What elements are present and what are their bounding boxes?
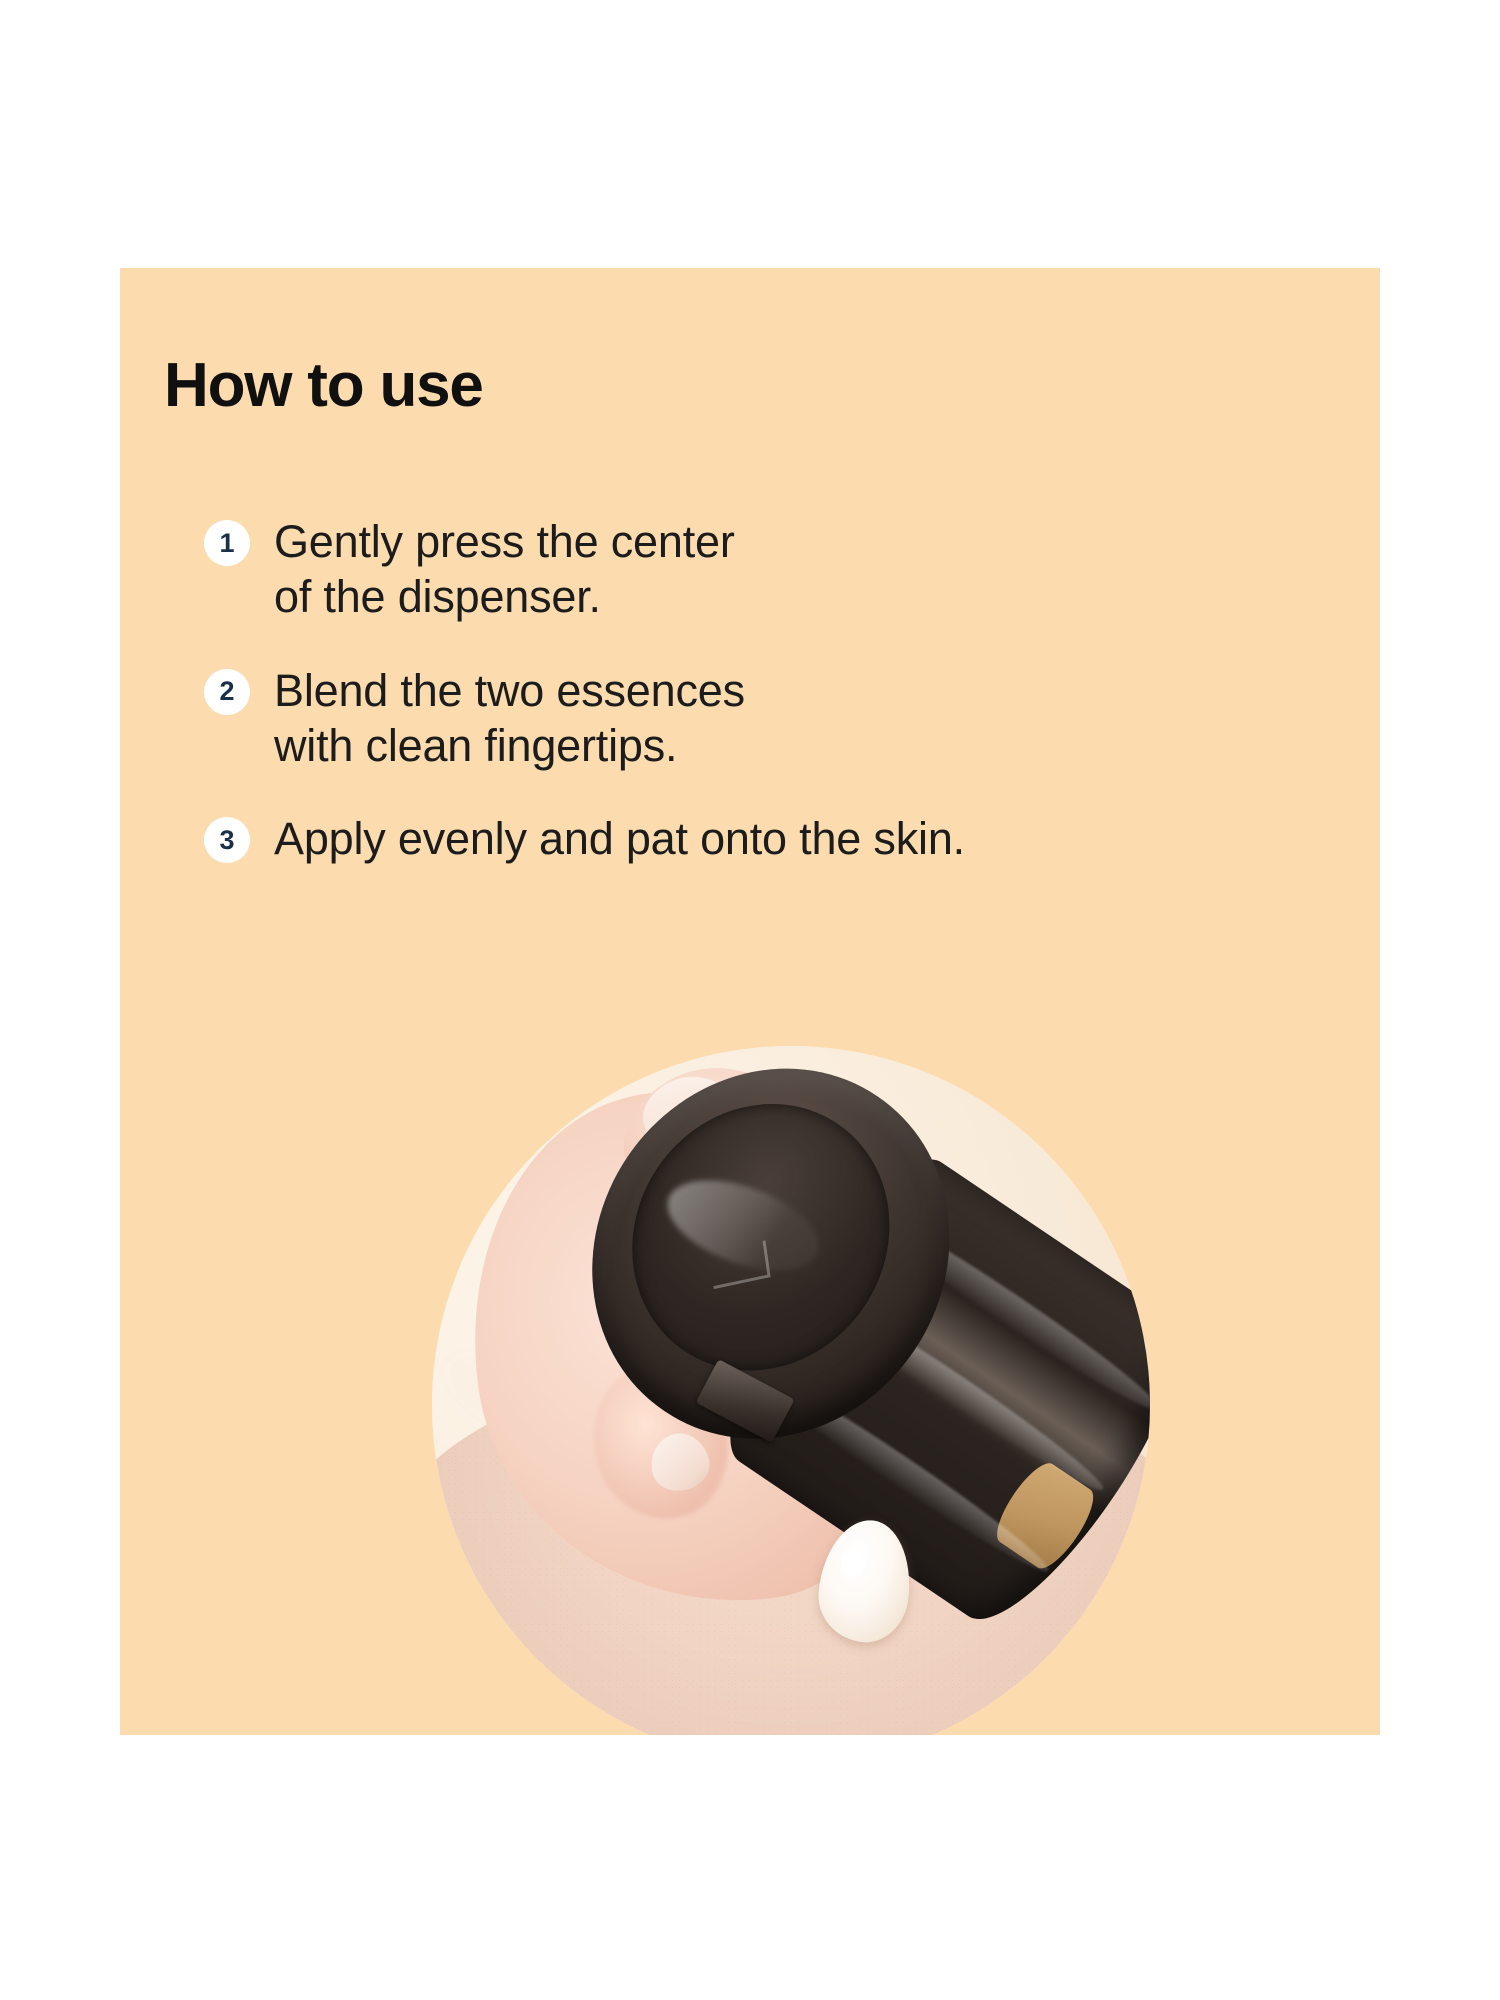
list-item: 1 Gently press the center of the dispens…: [204, 514, 1344, 625]
step-number-badge-2: 2: [204, 669, 250, 715]
step-number-badge-3: 3: [204, 817, 250, 863]
step-text-1: Gently press the center of the dispenser…: [274, 514, 1344, 625]
step-line: Blend the two essences: [274, 663, 1344, 718]
list-item: 3 Apply evenly and pat onto the skin.: [204, 811, 1344, 866]
page-title: How to use: [164, 353, 483, 418]
step-text-3: Apply evenly and pat onto the skin.: [274, 811, 1344, 866]
step-line: Apply evenly and pat onto the skin.: [274, 811, 1344, 866]
steps-list: 1 Gently press the center of the dispens…: [164, 514, 1344, 905]
list-item: 2 Blend the two essences with clean fing…: [204, 663, 1344, 774]
product-usage-photo: [432, 1046, 1150, 1735]
how-to-use-panel: How to use 1 Gently press the center of …: [120, 268, 1380, 1735]
step-line: with clean fingertips.: [274, 718, 1344, 773]
page-canvas: How to use 1 Gently press the center of …: [0, 0, 1500, 2000]
step-line: Gently press the center: [274, 514, 1344, 569]
step-line: of the dispenser.: [274, 569, 1344, 624]
step-text-2: Blend the two essences with clean finger…: [274, 663, 1344, 774]
step-number-badge-1: 1: [204, 520, 250, 566]
